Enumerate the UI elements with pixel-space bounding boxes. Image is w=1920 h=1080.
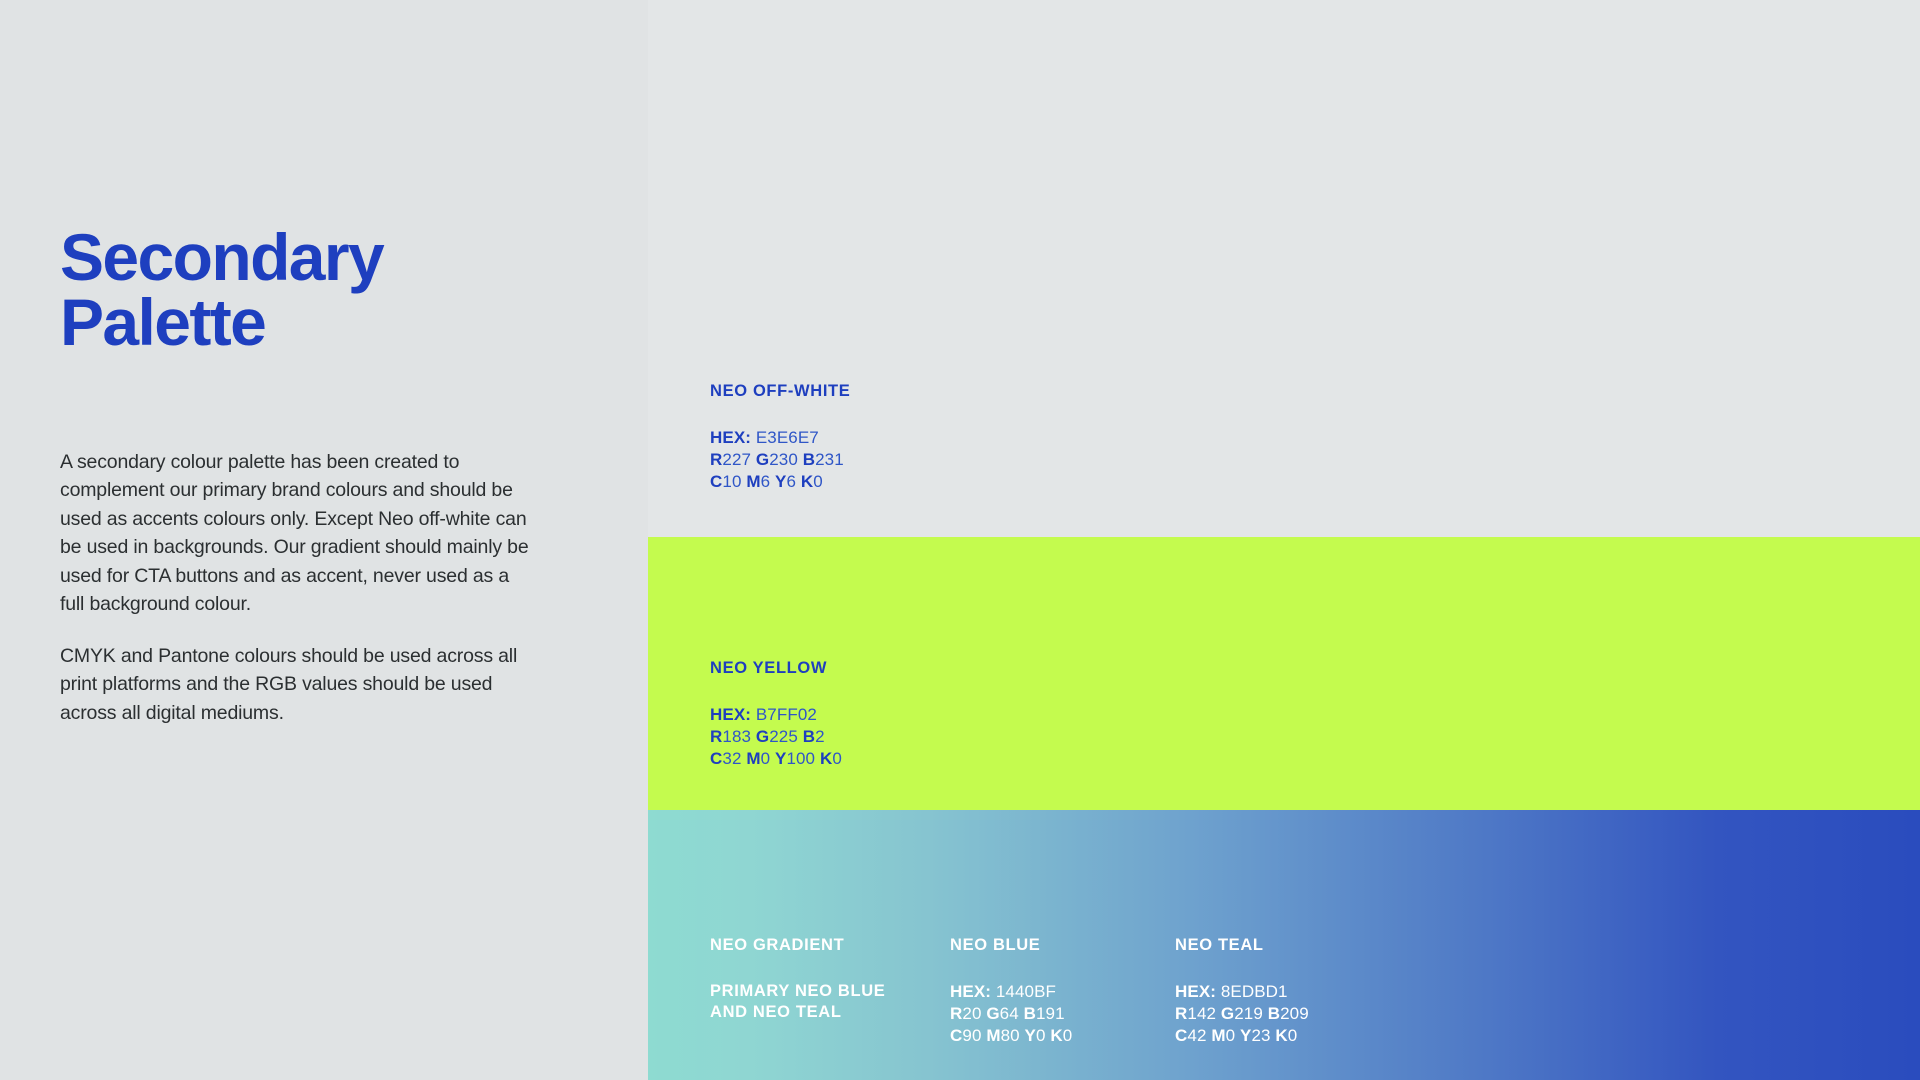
rgb-g-key: G xyxy=(756,450,769,469)
cmyk-m-value: 80 xyxy=(1001,1026,1020,1045)
cmyk-k-value: 0 xyxy=(832,749,842,768)
neo-gradient-description-line-2: AND NEO TEAL xyxy=(710,1003,842,1021)
cmyk-c-value: 10 xyxy=(722,472,741,491)
cmyk-k-key: K xyxy=(820,749,832,768)
intro-column: Secondary Palette A secondary colour pal… xyxy=(60,0,580,1080)
neo-gradient-description: PRIMARY NEO BLUE AND NEO TEAL xyxy=(710,981,885,1023)
rgb-b-key: B xyxy=(1024,1004,1036,1023)
rgb-r-value: 20 xyxy=(962,1004,981,1023)
cmyk-m-value: 6 xyxy=(761,472,771,491)
cmyk-c-key: C xyxy=(710,472,722,491)
cmyk-y-value: 23 xyxy=(1251,1026,1270,1045)
page-title-line-2: Palette xyxy=(60,285,265,359)
rgb-g-key: G xyxy=(986,1004,999,1023)
cmyk-c-key: C xyxy=(1175,1026,1187,1045)
rgb-b-value: 2 xyxy=(815,727,825,746)
rgb-r-value: 227 xyxy=(722,450,751,469)
hex-label: HEX: xyxy=(710,428,751,447)
cmyk-c-value: 90 xyxy=(962,1026,981,1045)
cmyk-y-value: 0 xyxy=(1036,1026,1046,1045)
cmyk-k-key: K xyxy=(1050,1026,1062,1045)
cmyk-m-key: M xyxy=(746,749,760,768)
rgb-b-key: B xyxy=(1268,1004,1280,1023)
cmyk-m-key: M xyxy=(986,1026,1000,1045)
neo-off-white-rgb: R227 G230 B231 xyxy=(710,449,850,471)
brand-guidelines-page: Secondary Palette A secondary colour pal… xyxy=(0,0,1920,1080)
neo-blue-info: NEO BLUE HEX: 1440BF R20 G64 B191 C90 M8… xyxy=(950,936,1072,1048)
cmyk-y-key: Y xyxy=(1025,1026,1036,1045)
neo-yellow-rgb: R183 G225 B2 xyxy=(710,726,842,748)
cmyk-y-key: Y xyxy=(775,749,786,768)
page-title-line-1: Secondary xyxy=(60,220,383,294)
rgb-g-value: 230 xyxy=(769,450,798,469)
neo-teal-info: NEO TEAL HEX: 8EDBD1 R142 G219 B209 C42 … xyxy=(1175,936,1309,1048)
cmyk-y-value: 100 xyxy=(786,749,815,768)
neo-yellow-name: NEO YELLOW xyxy=(710,659,842,679)
neo-blue-name: NEO BLUE xyxy=(950,936,1072,956)
cmyk-c-key: C xyxy=(950,1026,962,1045)
neo-gradient-info: NEO GRADIENT PRIMARY NEO BLUE AND NEO TE… xyxy=(710,936,885,1023)
rgb-r-key: R xyxy=(1175,1004,1187,1023)
rgb-b-value: 191 xyxy=(1036,1004,1065,1023)
intro-paragraph-2: CMYK and Pantone colours should be used … xyxy=(60,642,530,727)
neo-teal-hex: HEX: 8EDBD1 xyxy=(1175,981,1309,1003)
neo-off-white-info: NEO OFF-WHITE HEX: E3E6E7 R227 G230 B231… xyxy=(710,382,850,494)
hex-label: HEX: xyxy=(950,982,991,1001)
cmyk-k-key: K xyxy=(1275,1026,1287,1045)
neo-blue-cmyk: C90 M80 Y0 K0 xyxy=(950,1025,1072,1047)
intro-paragraph-1: A secondary colour palette has been crea… xyxy=(60,448,530,619)
rgb-g-value: 64 xyxy=(1000,1004,1019,1023)
cmyk-y-key: Y xyxy=(775,472,786,491)
cmyk-m-key: M xyxy=(1211,1026,1225,1045)
hex-value: E3E6E7 xyxy=(756,428,819,447)
rgb-r-key: R xyxy=(950,1004,962,1023)
cmyk-k-key: K xyxy=(801,472,813,491)
neo-teal-cmyk: C42 M0 Y23 K0 xyxy=(1175,1025,1309,1047)
rgb-b-value: 209 xyxy=(1280,1004,1309,1023)
hex-value: B7FF02 xyxy=(756,705,817,724)
neo-off-white-hex: HEX: E3E6E7 xyxy=(710,427,850,449)
cmyk-m-key: M xyxy=(746,472,760,491)
cmyk-y-key: Y xyxy=(1240,1026,1251,1045)
hex-label: HEX: xyxy=(1175,982,1216,1001)
neo-yellow-info: NEO YELLOW HEX: B7FF02 R183 G225 B2 C32 … xyxy=(710,659,842,771)
rgb-r-value: 183 xyxy=(722,727,751,746)
neo-teal-name: NEO TEAL xyxy=(1175,936,1309,956)
neo-blue-rgb: R20 G64 B191 xyxy=(950,1003,1072,1025)
neo-off-white-name: NEO OFF-WHITE xyxy=(710,382,850,402)
hex-value: 8EDBD1 xyxy=(1221,982,1288,1001)
page-title: Secondary Palette xyxy=(60,225,560,354)
neo-teal-rgb: R142 G219 B209 xyxy=(1175,1003,1309,1025)
cmyk-m-value: 0 xyxy=(761,749,771,768)
rgb-r-key: R xyxy=(710,450,722,469)
cmyk-m-value: 0 xyxy=(1226,1026,1236,1045)
rgb-b-key: B xyxy=(803,450,815,469)
neo-blue-hex: HEX: 1440BF xyxy=(950,981,1072,1003)
rgb-b-key: B xyxy=(803,727,815,746)
neo-gradient-description-line-1: PRIMARY NEO BLUE xyxy=(710,982,885,1000)
rgb-g-key: G xyxy=(1221,1004,1234,1023)
cmyk-c-key: C xyxy=(710,749,722,768)
rgb-r-value: 142 xyxy=(1187,1004,1216,1023)
cmyk-k-value: 0 xyxy=(1288,1026,1298,1045)
neo-yellow-cmyk: C32 M0 Y100 K0 xyxy=(710,748,842,770)
neo-gradient-name: NEO GRADIENT xyxy=(710,936,885,956)
rgb-g-value: 219 xyxy=(1234,1004,1263,1023)
cmyk-y-value: 6 xyxy=(786,472,796,491)
neo-off-white-cmyk: C10 M6 Y6 K0 xyxy=(710,471,850,493)
rgb-g-key: G xyxy=(756,727,769,746)
rgb-b-value: 231 xyxy=(815,450,844,469)
hex-value: 1440BF xyxy=(996,982,1056,1001)
neo-yellow-hex: HEX: B7FF02 xyxy=(710,704,842,726)
hex-label: HEX: xyxy=(710,705,751,724)
rgb-g-value: 225 xyxy=(769,727,798,746)
cmyk-c-value: 32 xyxy=(722,749,741,768)
rgb-r-key: R xyxy=(710,727,722,746)
cmyk-k-value: 0 xyxy=(813,472,823,491)
cmyk-c-value: 42 xyxy=(1187,1026,1206,1045)
cmyk-k-value: 0 xyxy=(1063,1026,1073,1045)
